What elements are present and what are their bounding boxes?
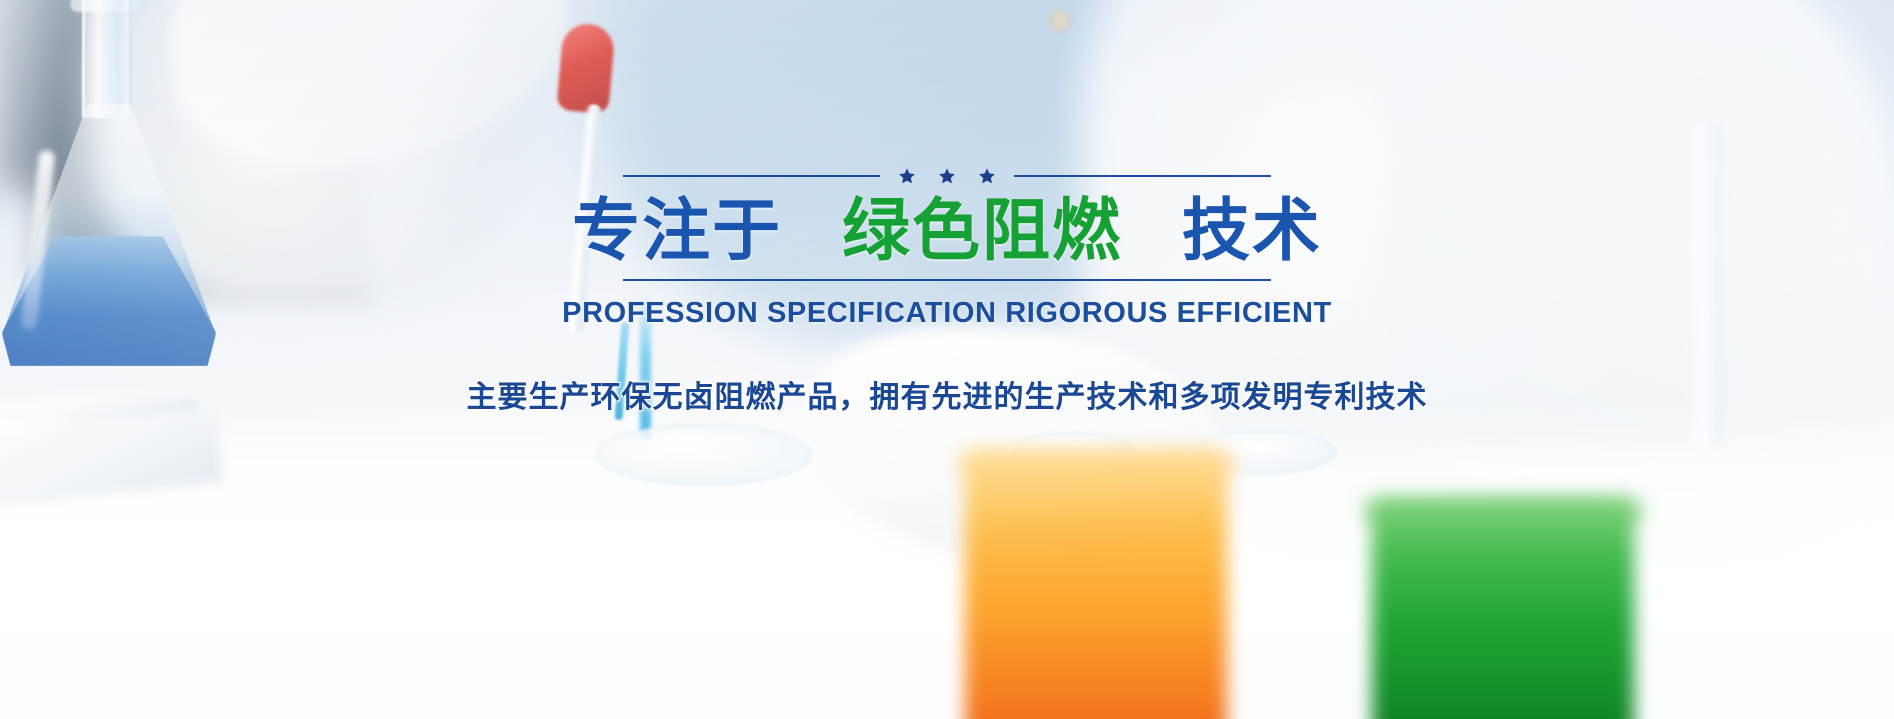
divider-rule-left bbox=[623, 175, 880, 177]
star-group bbox=[892, 167, 1002, 185]
beaker-orange bbox=[965, 452, 1227, 719]
coat-button bbox=[1049, 10, 1071, 32]
banner-content: 专注于 绿色阻燃 技术 PROFESSION SPECIFICATION RIG… bbox=[0, 166, 1894, 416]
petri-dish-center bbox=[596, 424, 812, 486]
beaker-green bbox=[1372, 500, 1634, 719]
headline-underline bbox=[623, 279, 1271, 281]
pipette-bulb bbox=[556, 22, 615, 114]
divider-rule-right bbox=[1014, 175, 1271, 177]
star-divider bbox=[623, 166, 1271, 186]
headline-segment-2: 绿色阻燃 bbox=[842, 193, 1122, 269]
hero-banner: 专注于 绿色阻燃 技术 PROFESSION SPECIFICATION RIG… bbox=[0, 0, 1894, 719]
tagline-chinese: 主要生产环保无卤阻燃产品，拥有先进的生产技术和多项发明专利技术 bbox=[467, 372, 1428, 416]
headline-segment-1: 专注于 bbox=[572, 193, 782, 269]
headline: 专注于 绿色阻燃 技术 bbox=[572, 196, 1322, 267]
star-icon bbox=[898, 167, 916, 185]
star-icon bbox=[978, 167, 996, 185]
subtitle-english: PROFESSION SPECIFICATION RIGOROUS EFFICI… bbox=[562, 297, 1332, 330]
star-icon bbox=[938, 167, 956, 185]
flask-neck bbox=[82, 0, 132, 118]
headline-segment-3: 技术 bbox=[1182, 193, 1322, 269]
